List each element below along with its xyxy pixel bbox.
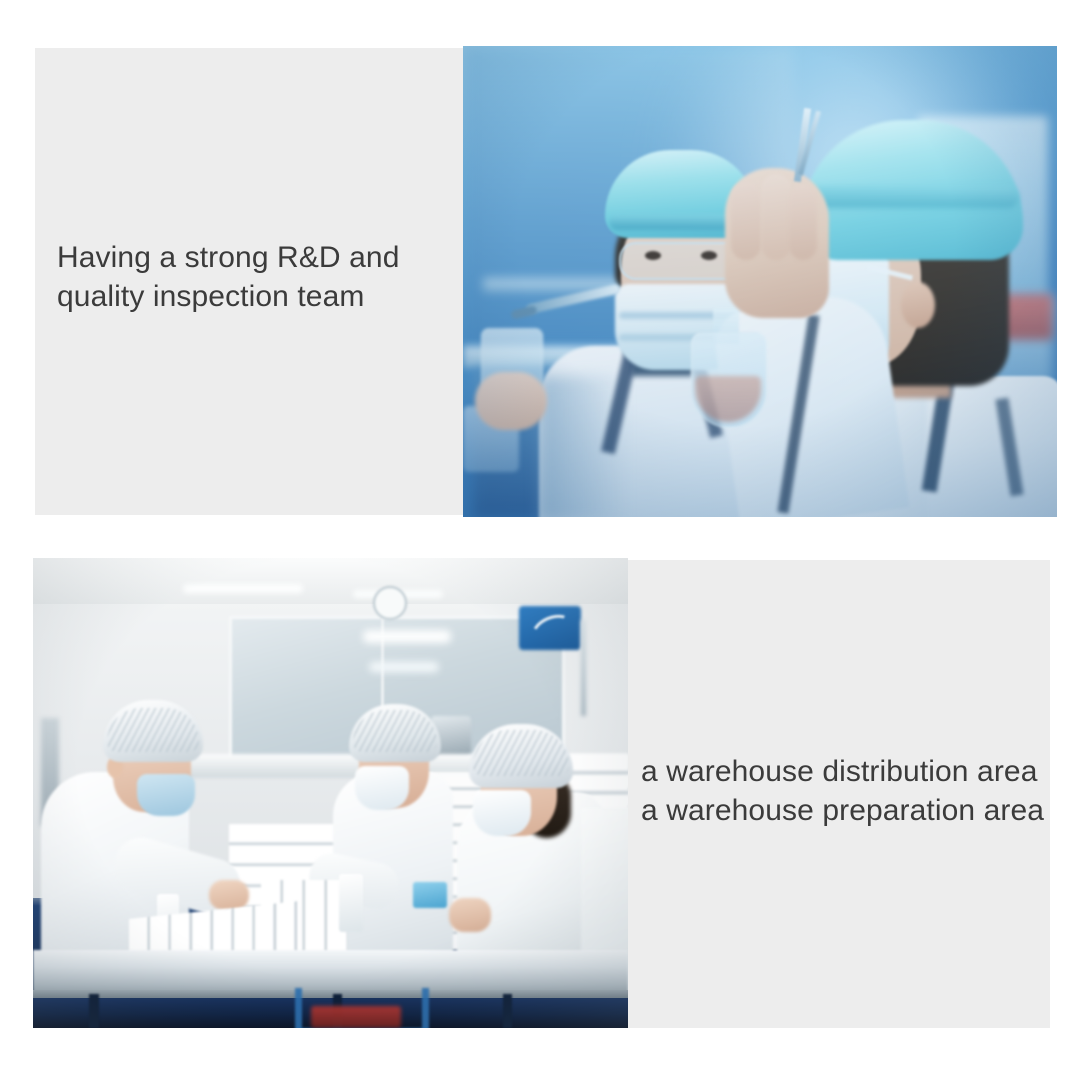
technician-right-ear <box>901 282 935 328</box>
worker-1-hand <box>209 880 249 910</box>
worker-3-face-mask <box>355 766 409 810</box>
cleanroom-ceiling <box>33 558 628 604</box>
white-bottle-right <box>339 874 363 932</box>
table-leg-1 <box>89 994 99 1028</box>
blue-label-card <box>413 882 447 908</box>
warehouse-caption-text: a warehouse distribution area a warehous… <box>641 752 1051 830</box>
technician-left-eye-right <box>701 251 717 260</box>
red-bin <box>311 1006 401 1028</box>
technician-right-finger-1 <box>731 182 761 260</box>
wall-clock <box>373 586 407 620</box>
technician-left-eye-left <box>645 251 661 260</box>
technician-left-hand <box>475 372 547 430</box>
worker-3-hair-net-texture <box>353 710 437 752</box>
warehouse-packing-photo <box>33 558 628 1028</box>
page-canvas: Having a strong R&D and quality inspecti… <box>0 0 1080 1080</box>
worker-4-hair-net-texture <box>473 730 569 776</box>
worker-4-face-mask <box>473 790 531 836</box>
worker-1-face-mask <box>137 774 195 816</box>
lab-inspection-photo <box>463 46 1057 517</box>
ceiling-light-1 <box>183 584 303 593</box>
window-reflection-1 <box>363 630 451 643</box>
table-leg-3 <box>503 994 512 1028</box>
window-reflection-2 <box>369 662 439 672</box>
worker-1-hair-net-texture <box>107 708 199 752</box>
rnd-caption-text: Having a strong R&D and quality inspecti… <box>57 238 457 316</box>
worker-4-hand <box>449 898 491 932</box>
hanging-hose <box>581 620 586 716</box>
technician-right-finger-3 <box>789 184 817 260</box>
technician-right-hair-net-band <box>807 186 1019 208</box>
technician-right-finger-2 <box>761 174 791 260</box>
